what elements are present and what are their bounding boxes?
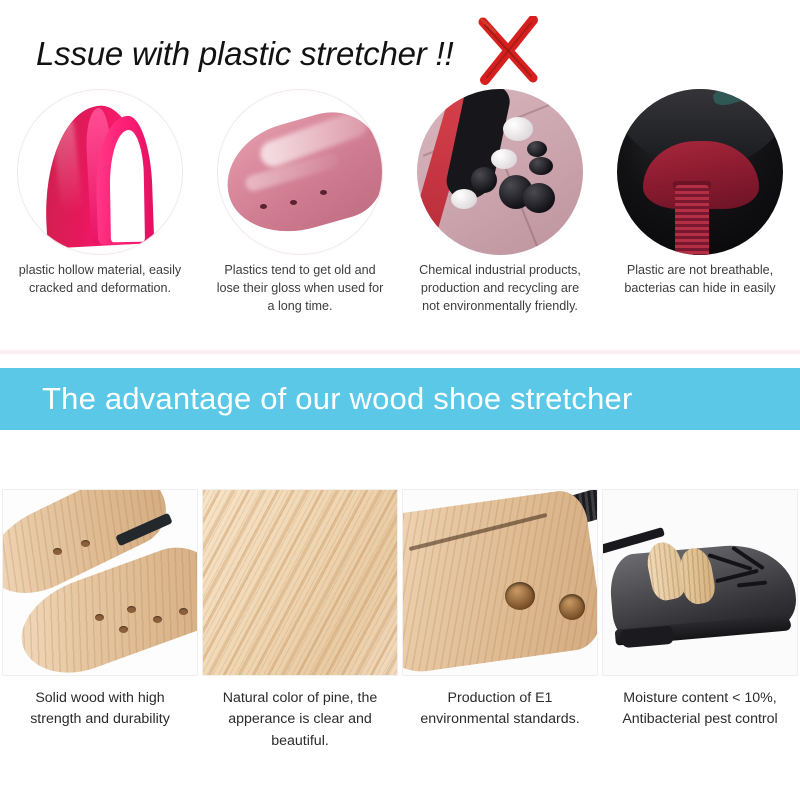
plastic-item-4 [600,82,800,262]
section-divider [0,348,800,356]
plastic-item-3 [400,82,600,262]
plastic-issue-section: Lssue with plastic stretcher !! [0,0,800,350]
advantage-banner-title: The advantage of our wood shoe stretcher [42,381,632,417]
pine-wood-grain-closeup-image [202,489,398,676]
two-wooden-shoe-stretcher-forms-image [2,489,198,676]
infographic-page: Lssue with plastic stretcher !! [0,0,800,800]
magenta-plastic-hollow-form-image [17,89,183,255]
plastic-caption-4: Plastic are not breathable, bacterias ca… [600,262,800,316]
plastic-caption-row: plastic hollow material, easily cracked … [0,262,800,316]
wooden-block-with-drilled-holes-image [402,489,598,676]
wood-caption-4: Moisture content < 10%, Antibacterial pe… [600,688,800,752]
headline-row: Lssue with plastic stretcher !! [36,22,541,86]
red-plastic-stretcher-inside-dark-shoe-image [617,89,783,255]
advantage-banner: The advantage of our wood shoe stretcher [0,368,800,430]
plastic-item-1 [0,82,200,262]
red-x-icon [475,16,541,86]
plastic-item-2 [200,82,400,262]
pink-glossy-plastic-toe-cap-image [217,89,383,255]
plastic-parts-on-tiled-floor-image [417,89,583,255]
wooden-stretcher-inside-black-dress-shoe-image [602,489,798,676]
plastic-caption-3: Chemical industrial products, production… [400,262,600,316]
wood-caption-row: Solid wood with high strength and durabi… [0,688,800,752]
wood-image-row [0,489,800,676]
plastic-image-row [0,82,800,262]
wood-caption-1: Solid wood with high strength and durabi… [0,688,200,752]
page-title: Lssue with plastic stretcher !! [36,35,453,73]
plastic-caption-1: plastic hollow material, easily cracked … [0,262,200,316]
wood-caption-3: Production of E1 environmental standards… [400,688,600,752]
plastic-caption-2: Plastics tend to get old and lose their … [200,262,400,316]
wood-caption-2: Natural color of pine, the apperance is … [200,688,400,752]
